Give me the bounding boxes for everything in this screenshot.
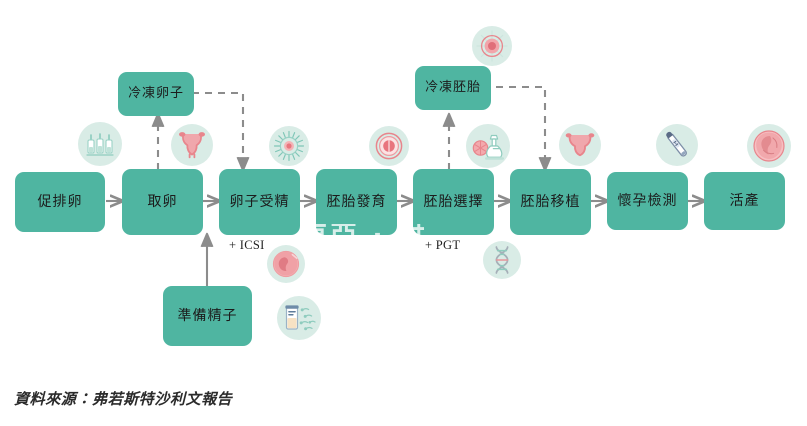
source-footnote: 資料來源：弗若斯特沙利文報告 bbox=[14, 388, 232, 409]
branch-box-frozen-eggs[interactable]: 冷凍卵子 bbox=[118, 72, 194, 116]
syringe-vials-icon bbox=[78, 122, 122, 166]
uterus-ovary-icon bbox=[171, 124, 213, 166]
step-label: 懷孕檢測 bbox=[618, 193, 678, 210]
sperm-sample-icon bbox=[277, 296, 321, 340]
step-label: 卵子受精 bbox=[230, 194, 290, 211]
caption-pgt: + PGT bbox=[425, 238, 460, 253]
caption-icsi: + ICSI bbox=[229, 238, 265, 253]
step-box-embryo-development[interactable]: 胚胎發育 bbox=[316, 169, 397, 235]
step-box-embryo-transfer[interactable]: 胚胎移植 bbox=[510, 169, 591, 235]
sperm-fertilizing-egg-icon bbox=[269, 126, 309, 166]
branch-label: 冷凍卵子 bbox=[128, 86, 184, 102]
step-label: 促排卵 bbox=[38, 194, 83, 211]
branch-label: 冷凍胚胎 bbox=[425, 80, 481, 96]
uterus-icon bbox=[559, 124, 601, 166]
diagram-canvas: 促排卵 取卵 卵子受精 胚胎發育 胚胎選擇 胚胎移植 懷孕檢測 活產 冷凍卵子 … bbox=[0, 0, 807, 426]
branch-box-prepare-sperm[interactable]: 準備精子 bbox=[163, 286, 252, 346]
step-label: 胚胎移植 bbox=[521, 194, 581, 211]
step-box-embryo-selection[interactable]: 胚胎選擇 bbox=[413, 169, 494, 235]
step-label: 活產 bbox=[730, 193, 760, 210]
dividing-embryo-cell-icon bbox=[369, 126, 409, 166]
fetus-icon bbox=[747, 124, 791, 168]
branch-label: 準備精子 bbox=[178, 308, 238, 325]
step-label: 取卵 bbox=[148, 194, 178, 211]
blastocyst-icon bbox=[267, 245, 305, 283]
dna-helix-icon bbox=[483, 241, 521, 279]
microscope-embryo-icon bbox=[466, 124, 510, 168]
step-label: 胚胎選擇 bbox=[424, 194, 484, 211]
step-box-live-birth[interactable]: 活產 bbox=[704, 172, 785, 230]
branch-box-frozen-embryo[interactable]: 冷凍胚胎 bbox=[415, 66, 491, 110]
frozen-embryo-icon bbox=[472, 26, 512, 66]
step-box-ovulation-induction[interactable]: 促排卵 bbox=[15, 172, 105, 232]
step-box-pregnancy-test[interactable]: 懷孕檢測 bbox=[607, 172, 688, 230]
step-box-egg-retrieval[interactable]: 取卵 bbox=[122, 169, 203, 235]
step-label: 胚胎發育 bbox=[327, 194, 387, 211]
pregnancy-test-icon bbox=[656, 124, 698, 166]
step-box-fertilization[interactable]: 卵子受精 bbox=[219, 169, 300, 235]
